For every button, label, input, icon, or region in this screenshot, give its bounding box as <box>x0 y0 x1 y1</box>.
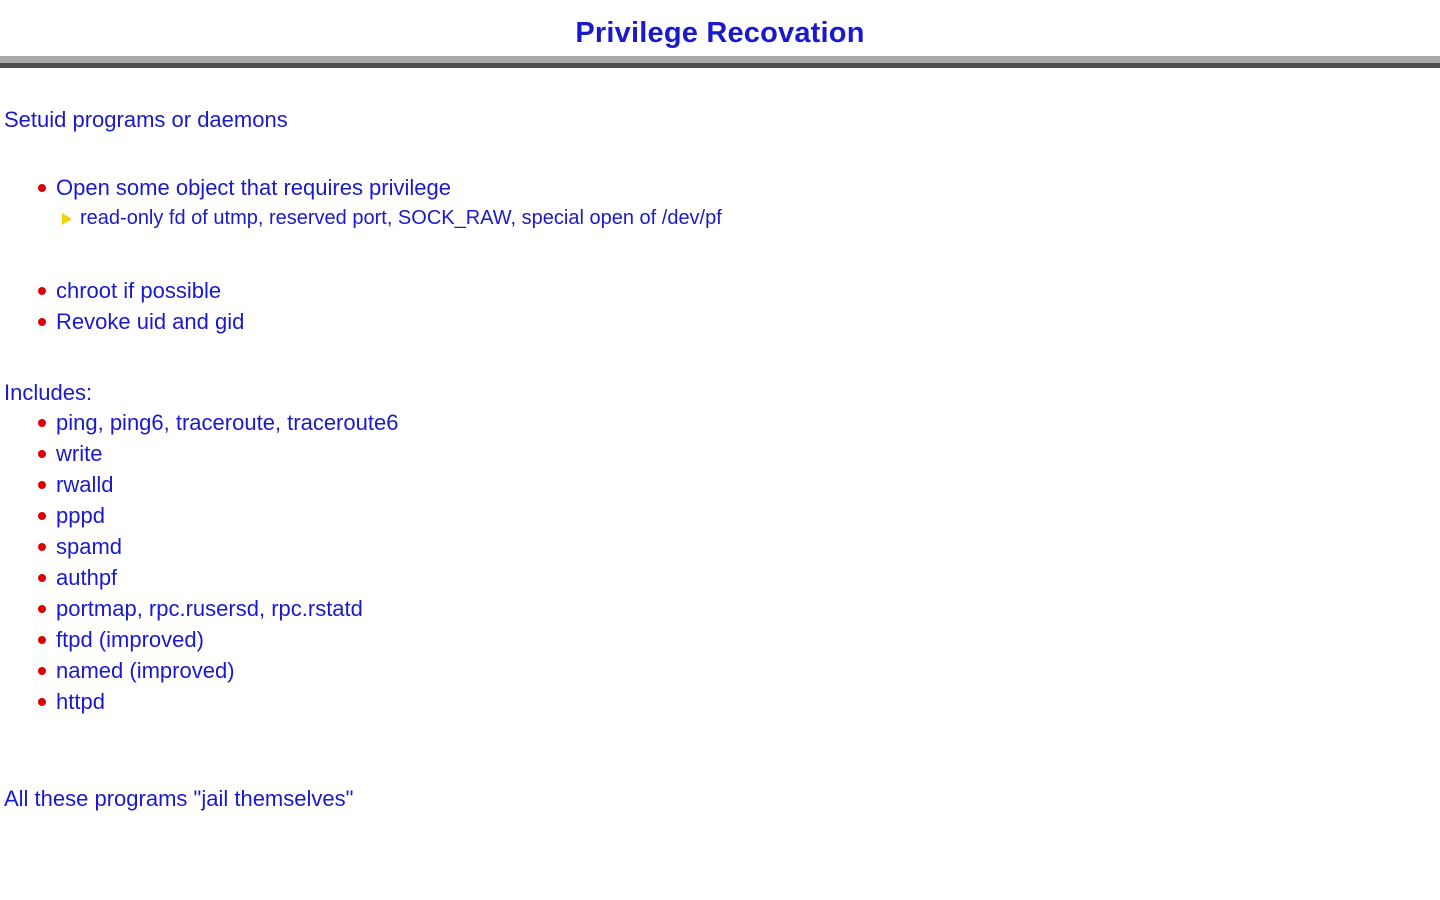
list-item-label: authpf <box>56 565 117 590</box>
closing-statement: All these programs "jail themselves" <box>4 785 1440 813</box>
bullet-dot-icon <box>38 481 46 489</box>
sub-list-item: read-only fd of utmp, reserved port, SOC… <box>0 203 1440 233</box>
list-item: httpd <box>0 686 1440 717</box>
slide-content: Setuid programs or daemons Open some obj… <box>0 68 1440 900</box>
list-item: ftpd (improved) <box>0 624 1440 655</box>
divider-band-light <box>0 56 1440 63</box>
list-item-label: named (improved) <box>56 658 235 683</box>
list-item: named (improved) <box>0 655 1440 686</box>
list-item-label: ftpd (improved) <box>56 627 204 652</box>
steps-list: Open some object that requires privilege <box>0 172 1440 203</box>
list-item-label: ping, ping6, traceroute, traceroute6 <box>56 410 398 435</box>
includes-heading: Includes: <box>4 379 1440 407</box>
list-item: Revoke uid and gid <box>0 306 1440 337</box>
list-item-label: Open some object that requires privilege <box>56 175 451 200</box>
spacer-after-intro <box>0 134 1440 172</box>
list-item: write <box>0 438 1440 469</box>
title-divider <box>0 56 1440 68</box>
list-item-label: portmap, rpc.rusersd, rpc.rstatd <box>56 596 363 621</box>
bullet-dot-icon <box>38 512 46 520</box>
spacer-top <box>0 68 1440 106</box>
list-item-label: Revoke uid and gid <box>56 309 244 334</box>
list-item: portmap, rpc.rusersd, rpc.rstatd <box>0 593 1440 624</box>
spacer-before-closing-2 <box>0 759 1440 785</box>
list-item-label: chroot if possible <box>56 278 221 303</box>
bullet-dot-icon <box>38 605 46 613</box>
steps-sublist: read-only fd of utmp, reserved port, SOC… <box>0 203 1440 233</box>
bullet-dot-icon <box>38 574 46 582</box>
bullet-dot-icon <box>38 636 46 644</box>
bullet-dot-icon <box>38 667 46 675</box>
steps-list-continued: chroot if possible Revoke uid and gid <box>0 275 1440 337</box>
bullet-dot-icon <box>38 287 46 295</box>
bullet-dot-icon <box>38 543 46 551</box>
includes-list: ping, ping6, traceroute, traceroute6 wri… <box>0 407 1440 717</box>
bullet-dot-icon <box>38 184 46 192</box>
bullet-dot-icon <box>38 698 46 706</box>
list-item: chroot if possible <box>0 275 1440 306</box>
list-item: pppd <box>0 500 1440 531</box>
bullet-dot-icon <box>38 450 46 458</box>
triangle-bullet-icon <box>62 213 72 225</box>
list-item: ping, ping6, traceroute, traceroute6 <box>0 407 1440 438</box>
list-item: spamd <box>0 531 1440 562</box>
page-title: Privilege Recovation <box>0 0 1440 48</box>
list-item: authpf <box>0 562 1440 593</box>
bullet-dot-icon <box>38 419 46 427</box>
list-item-label: pppd <box>56 503 105 528</box>
sub-list-item-label: read-only fd of utmp, reserved port, SOC… <box>80 207 722 229</box>
spacer-before-includes <box>0 337 1440 379</box>
list-item: Open some object that requires privilege <box>0 172 1440 203</box>
bullet-dot-icon <box>38 318 46 326</box>
list-item-label: spamd <box>56 534 122 559</box>
intro-heading: Setuid programs or daemons <box>4 106 1440 134</box>
list-item: rwalld <box>0 469 1440 500</box>
list-item-label: httpd <box>56 689 105 714</box>
spacer-before-closing <box>0 717 1440 759</box>
list-item-label: write <box>56 441 102 466</box>
list-item-label: rwalld <box>56 472 113 497</box>
spacer-after-sublist <box>0 233 1440 275</box>
